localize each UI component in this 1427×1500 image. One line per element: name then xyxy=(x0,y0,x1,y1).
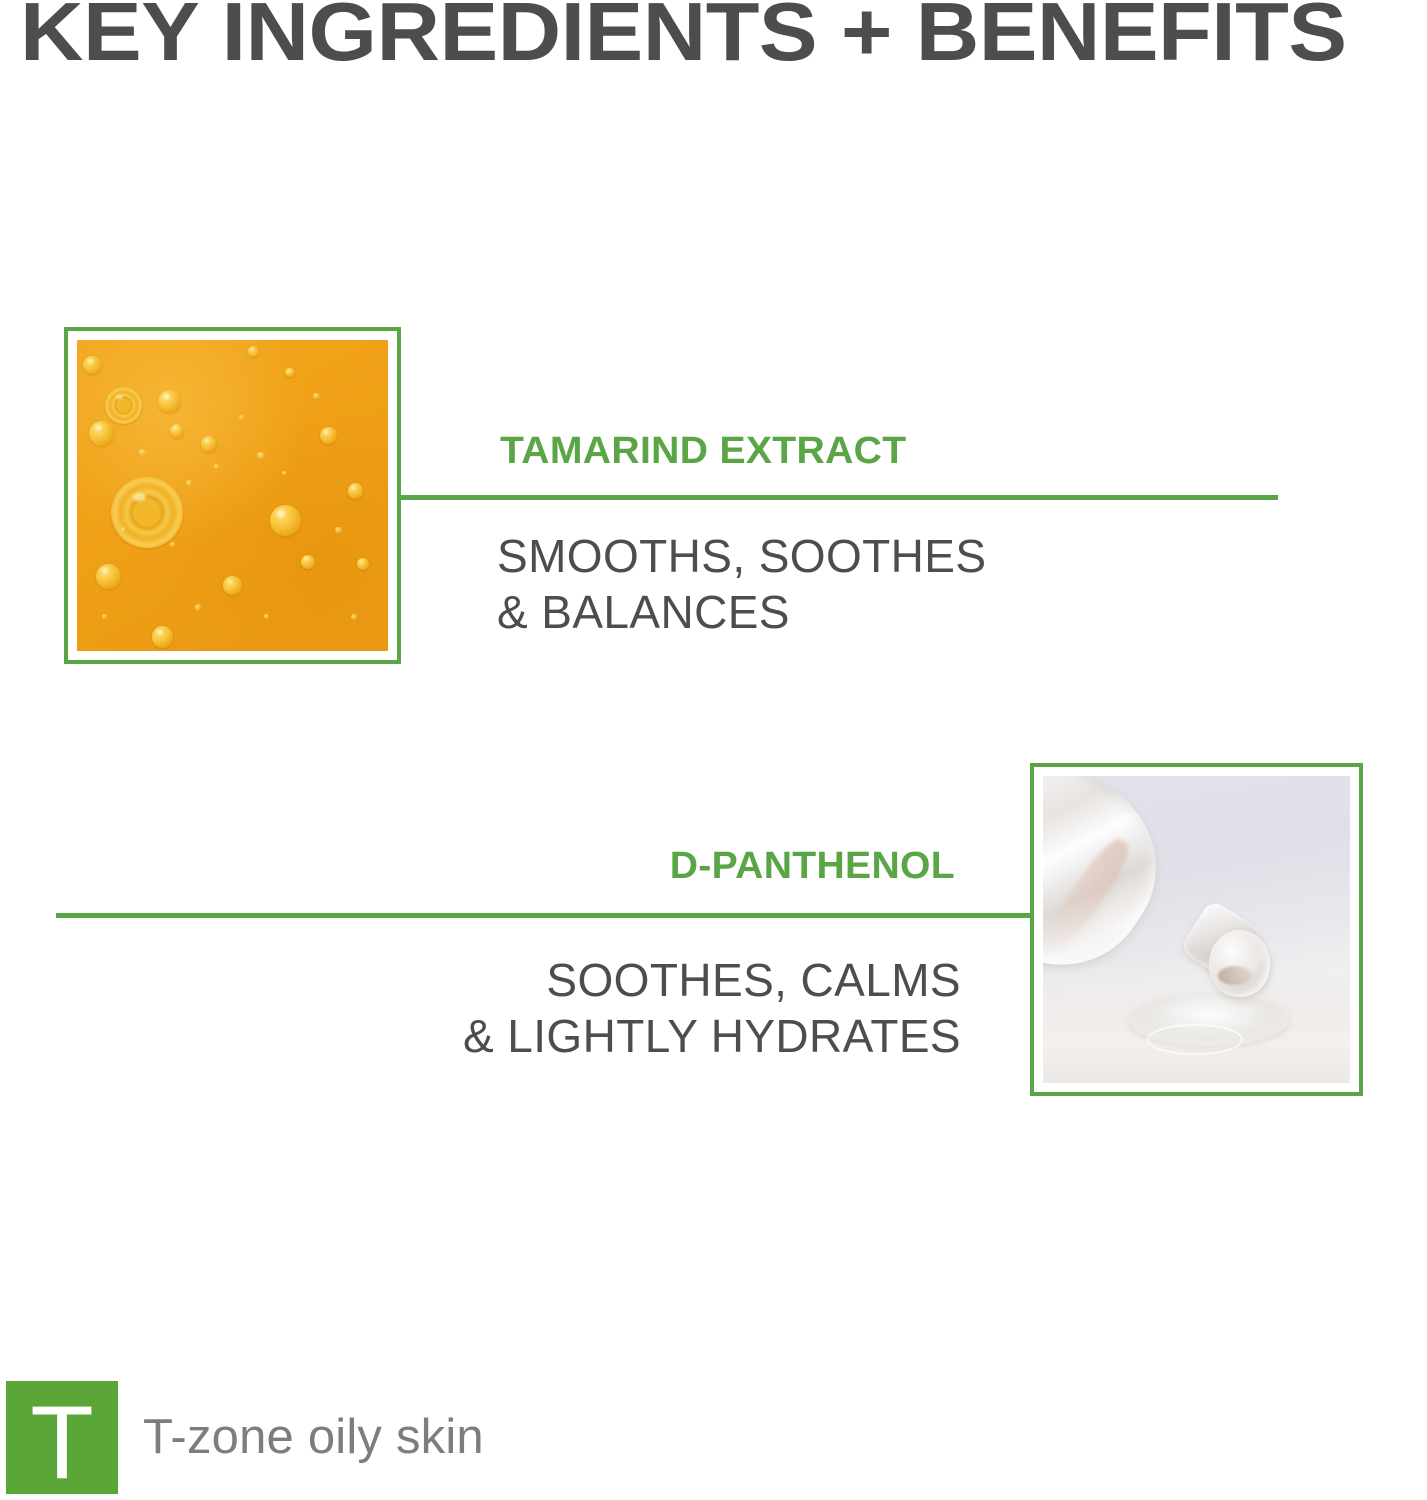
skin-type-label: T-zone oily skin xyxy=(143,1409,484,1465)
dropper-serum-image xyxy=(1043,776,1350,1083)
ingredient-name-tamarind: TAMARIND EXTRACT xyxy=(500,430,906,473)
ingredients-benefits-infographic: KEY INGREDIENTS + BENEFITS xyxy=(0,0,1427,1500)
ingredient-image-frame-panthenol xyxy=(1030,763,1363,1096)
ingredient-benefit-panthenol: SOOTHES, CALMS & LIGHTLY HYDRATES xyxy=(463,952,961,1064)
connector-rule-panthenol xyxy=(56,913,1031,918)
skin-type-badge: T xyxy=(6,1381,118,1494)
orange-oil-swatch-image xyxy=(77,340,388,651)
ingredient-image-panthenol xyxy=(1043,776,1350,1083)
connector-rule-tamarind xyxy=(401,495,1278,500)
ingredient-image-tamarind xyxy=(77,340,388,651)
page-title: KEY INGREDIENTS + BENEFITS xyxy=(20,0,1427,78)
ingredient-benefit-tamarind: SMOOTHS, SOOTHES & BALANCES xyxy=(497,528,986,640)
ingredient-image-frame-tamarind xyxy=(64,327,401,664)
t-zone-letter-icon: T xyxy=(6,1391,118,1494)
ingredient-name-panthenol: D-PANTHENOL xyxy=(670,845,955,888)
